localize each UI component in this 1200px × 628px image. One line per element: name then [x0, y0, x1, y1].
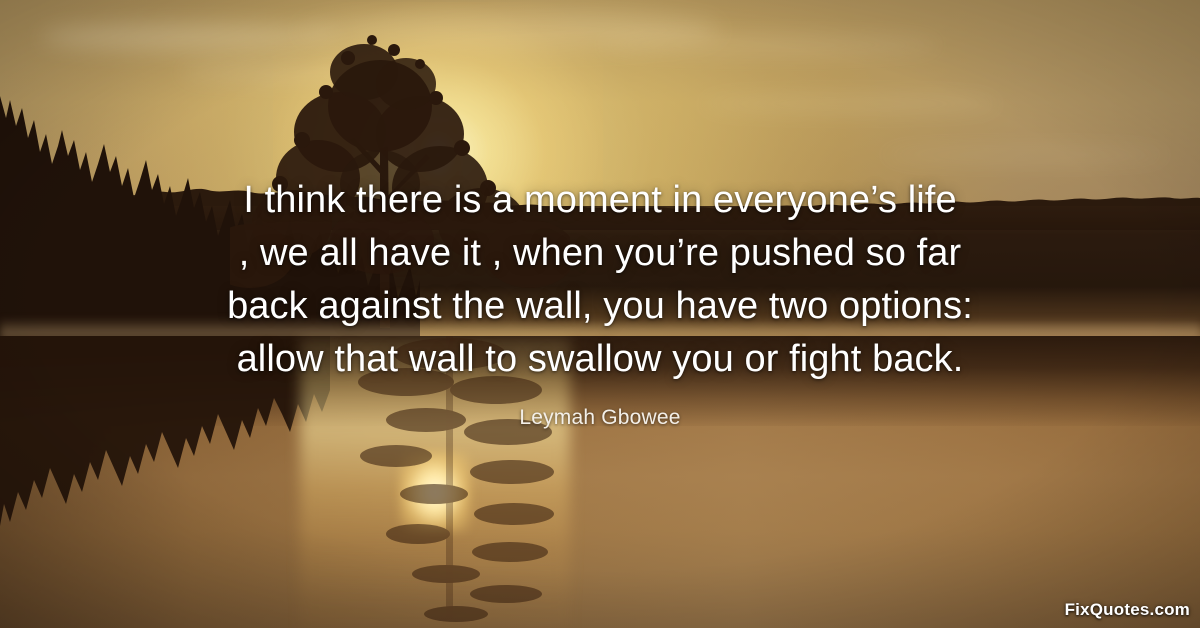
quote-line: , we all have it , when you’re pushed so… — [0, 227, 1200, 280]
quote-author: Leymah Gbowee — [0, 406, 1200, 430]
quote-line: back against the wall, you have two opti… — [0, 280, 1200, 333]
watermark-fixquotes: FixQuotes.com — [1065, 600, 1190, 620]
quote-line: allow that wall to swallow you or fight … — [0, 333, 1200, 386]
quote-line: I think there is a moment in everyone’s … — [0, 174, 1200, 227]
quote-text-block: I think there is a moment in everyone’s … — [0, 174, 1200, 386]
quote-image: I think there is a moment in everyone’s … — [0, 0, 1200, 628]
